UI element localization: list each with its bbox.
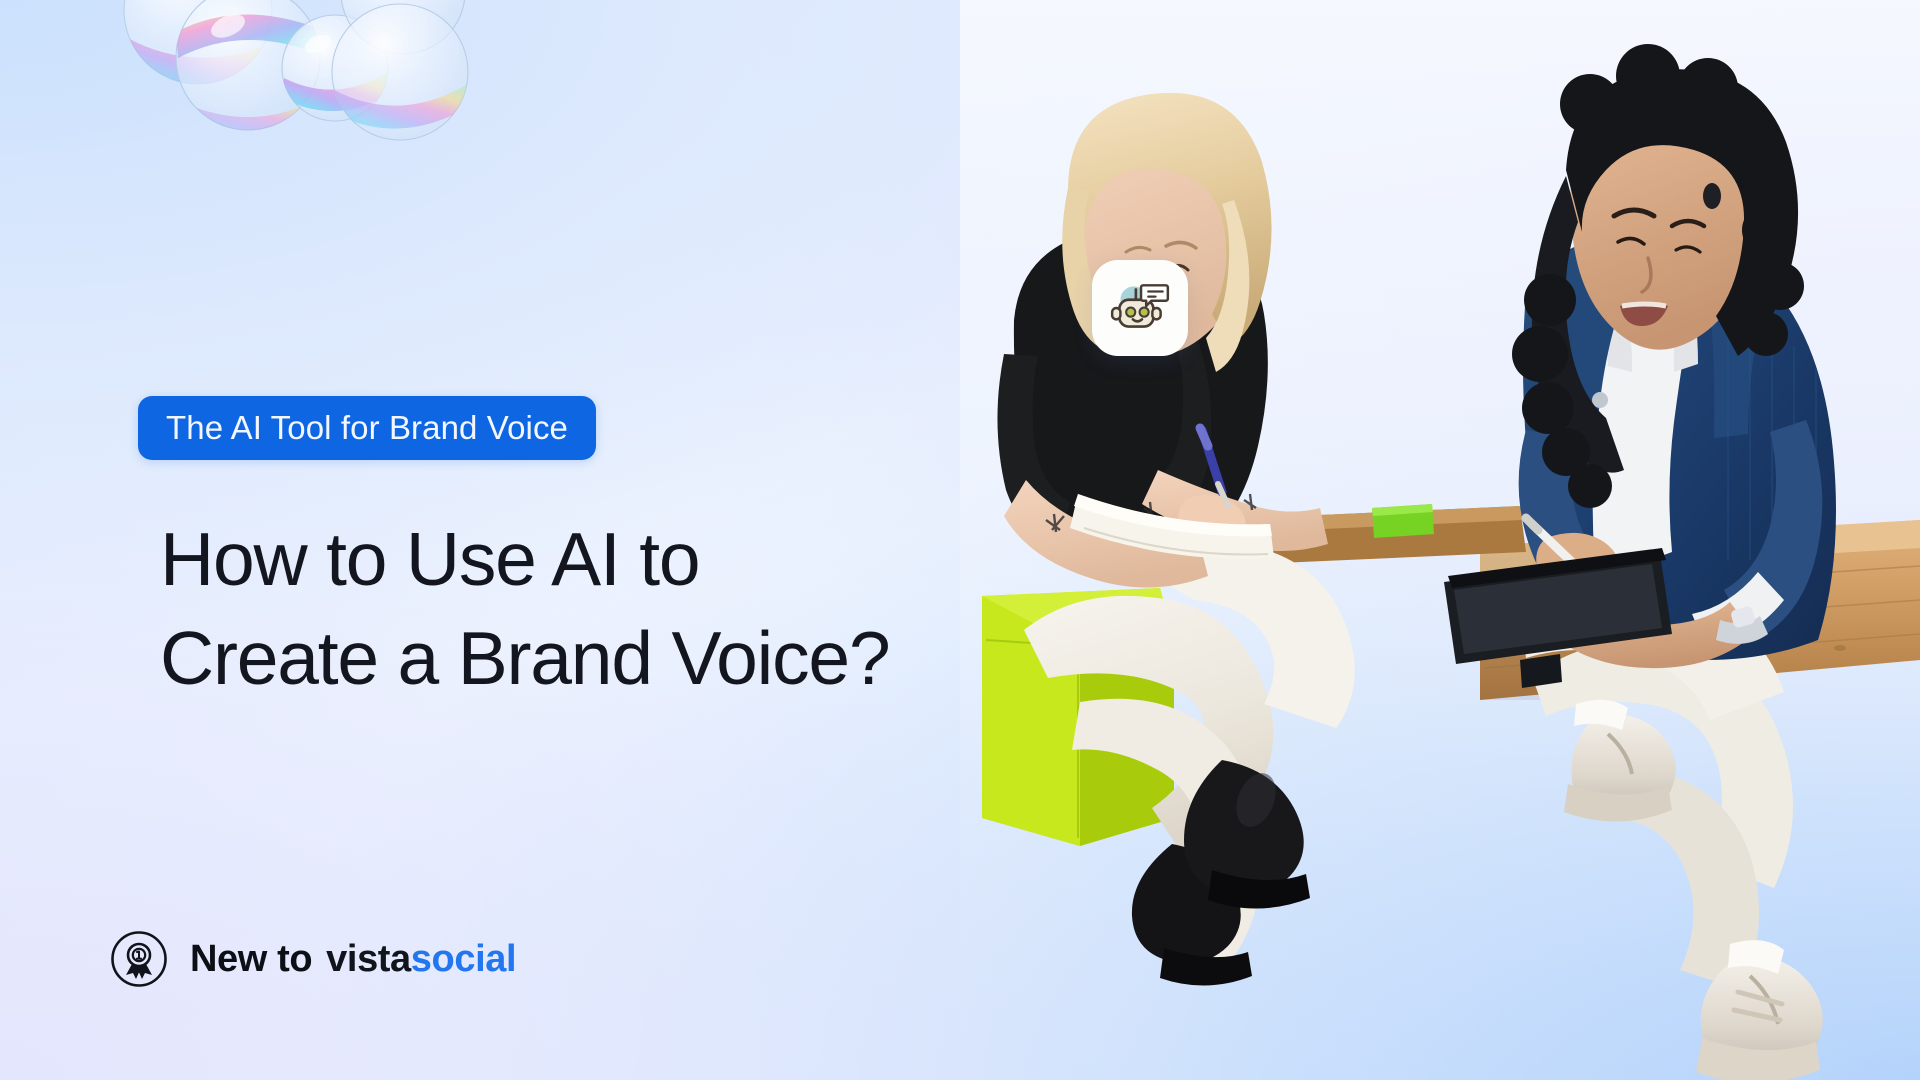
eyebrow-badge-label: The AI Tool for Brand Voice [166,409,568,447]
brand-name-second: social [411,938,516,980]
eyebrow-badge: The AI Tool for Brand Voice [138,396,596,460]
robot-chat-icon-tile [1092,260,1188,356]
robot-chat-icon [1107,275,1173,341]
brand-lockup: New to vistasocial [190,938,516,981]
hero-text-content: The AI Tool for Brand Voice How to Use A… [0,0,1100,1080]
green-sticky-note [1372,504,1434,538]
hero-photo [960,0,1920,1080]
brand-footer: New to vistasocial [110,930,516,988]
award-ribbon-icon [110,930,168,988]
brand-name-first: vista [326,938,411,980]
brand-name: vistasocial [326,938,516,981]
page-title: How to Use AI to Create a Brand Voice? [160,522,889,696]
headline-line-1: How to Use AI to [160,522,889,597]
brand-prefix: New to [190,938,312,981]
headline-line-2: Create a Brand Voice? [160,621,889,696]
